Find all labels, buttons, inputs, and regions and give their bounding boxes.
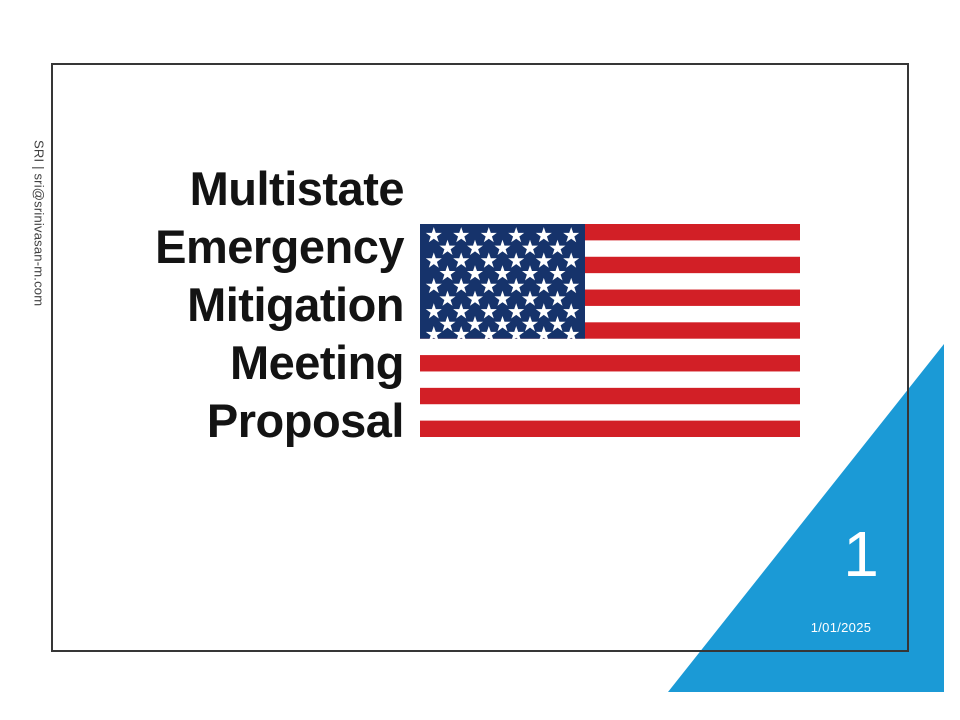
united-states-flag [420,224,800,437]
slide-number: 1 [830,522,892,586]
slide-date: 1/01/2025 [790,620,892,635]
title-line-4: Meeting [96,334,404,392]
title-line-2: Emergency [96,218,404,276]
side-label-container: SRI | sri@srinivasan-m.com [26,140,52,340]
page-title: Multistate Emergency Mitigation Meeting … [96,160,404,450]
title-line-3: Mitigation [96,276,404,334]
author-contact-label: SRI | sri@srinivasan-m.com [32,140,47,306]
title-line-1: Multistate [96,160,404,218]
presentation-slide: SRI | sri@srinivasan-m.com Multistate Em… [0,0,960,720]
title-line-5: Proposal [96,392,404,450]
